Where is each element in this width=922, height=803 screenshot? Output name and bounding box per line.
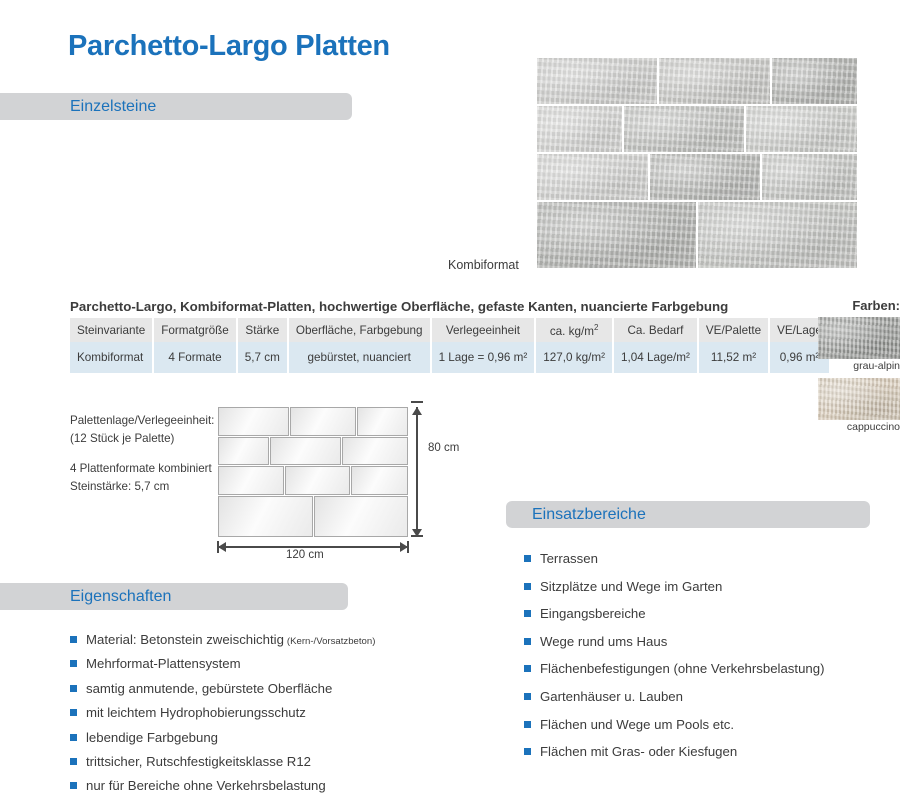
- bullet-square-icon: [70, 685, 77, 692]
- product-photo-kombiformat: [537, 58, 857, 268]
- col-steinvariante: Steinvariante: [70, 318, 152, 342]
- dimension-right-cap: [407, 541, 409, 553]
- diagram-slab: [285, 466, 351, 495]
- list-item-label: lebendige Farbgebung: [86, 730, 218, 745]
- list-item: Terrassen: [524, 551, 824, 566]
- bullet-square-icon: [70, 636, 77, 643]
- diagram-slab: [342, 437, 408, 466]
- col-bedarf: Ca. Bedarf: [614, 318, 697, 342]
- cell-oberflaeche: gebürstet, nuanciert: [289, 342, 430, 373]
- cell-steinvariante: Kombiformat: [70, 342, 152, 373]
- diagram-slab: [218, 466, 284, 495]
- col-ve-palette: VE/Palette: [699, 318, 768, 342]
- cell-bedarf: 1,04 Lage/m²: [614, 342, 697, 373]
- photo-slab: [762, 154, 857, 200]
- diagram-slab: [314, 496, 409, 537]
- list-item-label: mit leichtem Hydrophobierungsschutz: [86, 705, 306, 720]
- list-item-label: Eingangsbereiche: [540, 606, 646, 621]
- eigenschaften-list: Material: Betonstein zweischichtig(Kern-…: [70, 632, 375, 803]
- list-item-label: Sitzplätze und Wege im Garten: [540, 579, 722, 594]
- section-header-einsatzbereiche-label: Einsatzbereiche: [532, 506, 646, 524]
- list-item-label: Flächen mit Gras- oder Kiesfugen: [540, 744, 737, 759]
- list-item: Gartenhäuser u. Lauben: [524, 689, 824, 704]
- bullet-square-icon: [70, 758, 77, 765]
- section-header-einzelsteine: Einzelsteine: [0, 93, 352, 120]
- bullet-square-icon: [70, 709, 77, 716]
- diagram-slab: [351, 466, 408, 495]
- spec-table: Steinvariante Formatgröße Stärke Oberflä…: [68, 318, 831, 373]
- cell-formatgroesse: 4 Formate: [154, 342, 236, 373]
- list-item: trittsicher, Rutschfestigkeitsklasse R12: [70, 754, 375, 769]
- cell-verlegeeinheit: 1 Lage = 0,96 m²: [432, 342, 535, 373]
- bullet-square-icon: [524, 721, 531, 728]
- photo-slab: [537, 58, 657, 104]
- bullet-square-icon: [524, 693, 531, 700]
- dimension-height-line: [416, 407, 418, 537]
- photo-slab: [746, 106, 857, 152]
- bullet-square-icon: [524, 583, 531, 590]
- col-verlegeeinheit: Verlegeeinheit: [432, 318, 535, 342]
- list-item-label: Flächenbefestigungen (ohne Verkehrsbelas…: [540, 661, 824, 676]
- section-header-eigenschaften: Eigenschaften: [0, 583, 348, 610]
- color-swatch-cappuccino: [818, 378, 900, 420]
- bullet-square-icon: [524, 610, 531, 617]
- bullet-square-icon: [70, 782, 77, 789]
- color-label-cappuccino: cappuccino: [818, 421, 900, 433]
- diagram-slab-row: [218, 466, 408, 495]
- dimension-bottom-cap: [411, 535, 423, 537]
- list-item: Eingangsbereiche: [524, 606, 824, 621]
- diagram-slab: [270, 437, 341, 466]
- list-item: lebendige Farbgebung: [70, 730, 375, 745]
- col-formatgroesse: Formatgröße: [154, 318, 236, 342]
- laying-pattern-diagram: [218, 407, 408, 537]
- list-item: Mehrformat-Plattensystem: [70, 656, 375, 671]
- color-options: Farben: grau-alpin cappuccino: [818, 298, 900, 439]
- photo-slab: [698, 202, 857, 268]
- list-item: Flächen und Wege um Pools etc.: [524, 717, 824, 732]
- einsatzbereiche-list: TerrassenSitzplätze und Wege im GartenEi…: [524, 551, 824, 772]
- color-swatch-grau-alpin: [818, 317, 900, 359]
- col-kg-m2: ca. kg/m2: [536, 318, 612, 342]
- bullet-square-icon: [524, 555, 531, 562]
- list-item: Wege rund ums Haus: [524, 634, 824, 649]
- diagram-slab: [290, 407, 356, 436]
- pattern-note-line-4: Steinstärke: 5,7 cm: [70, 478, 214, 496]
- cell-staerke: 5,7 cm: [238, 342, 287, 373]
- diagram-slab-row: [218, 496, 408, 537]
- photo-slab: [624, 106, 744, 152]
- color-options-title: Farben:: [818, 298, 900, 313]
- pattern-note-line-2: (12 Stück je Palette): [70, 430, 214, 448]
- list-item: samtig anmutende, gebürstete Oberfläche: [70, 681, 375, 696]
- col-staerke: Stärke: [238, 318, 287, 342]
- section-header-einsatzbereiche: Einsatzbereiche: [506, 501, 870, 528]
- color-label-grau-alpin: grau-alpin: [818, 360, 900, 372]
- photo-slab: [650, 154, 761, 200]
- section-header-einzelsteine-label: Einzelsteine: [70, 98, 156, 116]
- section-header-eigenschaften-label: Eigenschaften: [70, 588, 171, 606]
- bullet-square-icon: [524, 638, 531, 645]
- list-item-label: Wege rund ums Haus: [540, 634, 667, 649]
- photo-slab-row: [537, 202, 857, 268]
- list-item-label: Material: Betonstein zweischichtig: [86, 632, 284, 647]
- product-photo-caption: Kombiformat: [448, 258, 519, 272]
- dimension-top-cap: [411, 401, 423, 403]
- diagram-slab: [218, 437, 269, 466]
- diagram-slab-row: [218, 407, 408, 436]
- dimension-width-line: [218, 546, 408, 548]
- list-item: nur für Bereiche ohne Verkehrsbelastung: [70, 778, 375, 793]
- bullet-square-icon: [70, 660, 77, 667]
- photo-slab: [537, 106, 622, 152]
- page-title: Parchetto-Largo Platten: [68, 30, 390, 63]
- list-item: Flächen mit Gras- oder Kiesfugen: [524, 744, 824, 759]
- list-item: Sitzplätze und Wege im Garten: [524, 579, 824, 594]
- spec-table-caption: Parchetto-Largo, Kombiformat-Platten, ho…: [70, 299, 728, 314]
- photo-slab: [772, 58, 857, 104]
- list-item-label: Mehrformat-Plattensystem: [86, 656, 241, 671]
- list-item-subnote: (Kern-/Vorsatzbeton): [287, 636, 376, 647]
- list-item: Material: Betonstein zweischichtig(Kern-…: [70, 632, 375, 647]
- photo-slab: [659, 58, 770, 104]
- list-item: mit leichtem Hydrophobierungsschutz: [70, 705, 375, 720]
- list-item-label: Gartenhäuser u. Lauben: [540, 689, 683, 704]
- table-row: Kombiformat 4 Formate 5,7 cm gebürstet, …: [70, 342, 829, 373]
- list-item-label: nur für Bereiche ohne Verkehrsbelastung: [86, 778, 326, 793]
- spec-table-header-row: Steinvariante Formatgröße Stärke Oberflä…: [70, 318, 829, 342]
- col-oberflaeche: Oberfläche, Farbgebung: [289, 318, 430, 342]
- pattern-note-line-1: Palettenlage/Verlegeeinheit:: [70, 412, 214, 430]
- bullet-square-icon: [524, 748, 531, 755]
- dimension-height-label: 80 cm: [428, 442, 459, 454]
- pattern-notes: Palettenlage/Verlegeeinheit: (12 Stück j…: [70, 412, 214, 495]
- photo-slab-row: [537, 58, 857, 104]
- diagram-slab: [357, 407, 408, 436]
- list-item: Flächenbefestigungen (ohne Verkehrsbelas…: [524, 661, 824, 676]
- diagram-slab: [218, 407, 289, 436]
- pattern-note-line-3: 4 Plattenformate kombiniert: [70, 460, 214, 478]
- cell-ve-palette: 11,52 m²: [699, 342, 768, 373]
- photo-slab-row: [537, 154, 857, 200]
- list-item-label: Terrassen: [540, 551, 598, 566]
- photo-slab: [537, 154, 648, 200]
- cell-kg-m2: 127,0 kg/m²: [536, 342, 612, 373]
- photo-slab-row: [537, 106, 857, 152]
- list-item-label: Flächen und Wege um Pools etc.: [540, 717, 734, 732]
- bullet-square-icon: [524, 665, 531, 672]
- diagram-slab-row: [218, 437, 408, 466]
- diagram-slab: [218, 496, 313, 537]
- list-item-label: samtig anmutende, gebürstete Oberfläche: [86, 681, 332, 696]
- dimension-width-label: 120 cm: [286, 549, 324, 561]
- photo-slab: [537, 202, 696, 268]
- bullet-square-icon: [70, 734, 77, 741]
- list-item-label: trittsicher, Rutschfestigkeitsklasse R12: [86, 754, 311, 769]
